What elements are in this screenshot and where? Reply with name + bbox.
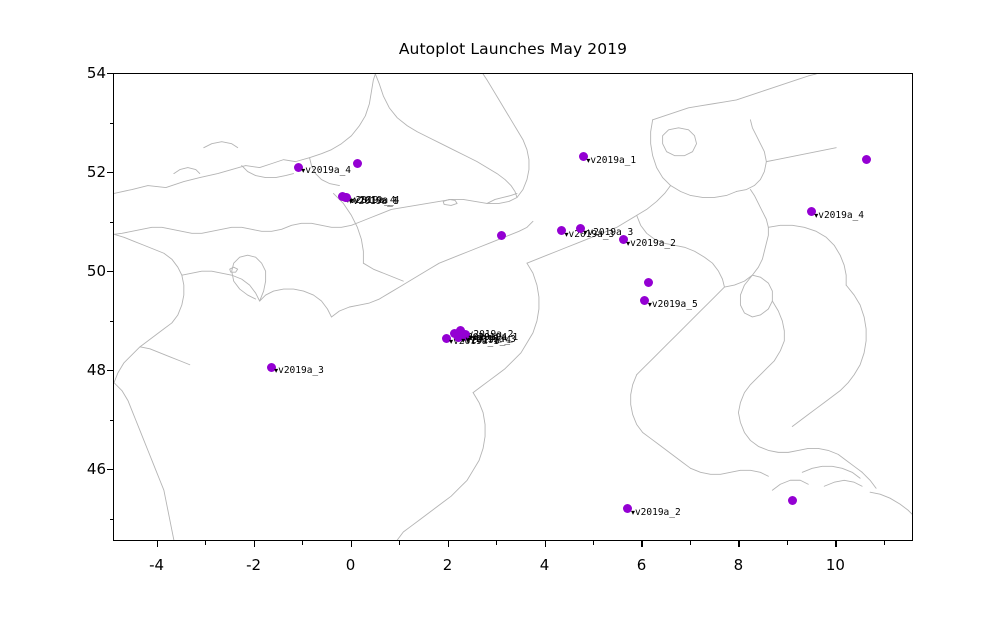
scatter-point[interactable] <box>788 496 797 505</box>
point-label: ▾v2019a_4 <box>814 211 864 221</box>
y-tick-label: 50 <box>87 262 106 280</box>
y-tick-label: 52 <box>87 163 106 181</box>
x-tick-minor <box>302 541 303 545</box>
x-tick-minor <box>787 541 788 545</box>
point-label: ▾v2019a_2 <box>626 239 676 249</box>
y-tick-label: 48 <box>87 361 106 379</box>
x-tick-label: 0 <box>346 556 356 574</box>
x-tick-minor <box>205 541 206 545</box>
point-label: ▾v2019a_5 <box>648 300 698 310</box>
x-tick-minor <box>496 541 497 545</box>
point-label-text: v2019a_4 <box>305 165 351 176</box>
point-label-text: v2019a_3 <box>278 365 324 376</box>
y-tick-minor <box>110 519 114 520</box>
x-tick-label: 10 <box>826 556 845 574</box>
x-tick-major <box>351 541 352 547</box>
y-tick-major <box>107 271 113 272</box>
map-axes[interactable]: ▾v2019a_4▾v2019a_4▾v2019a_1▾v2019a_4▾v20… <box>113 73 913 541</box>
x-tick-minor <box>399 541 400 545</box>
scatter-point[interactable] <box>862 155 871 164</box>
x-tick-label: -2 <box>246 556 261 574</box>
y-tick-label: 54 <box>87 64 106 82</box>
x-tick-label: -4 <box>149 556 164 574</box>
x-tick-major <box>641 541 642 547</box>
y-tick-major <box>107 73 113 74</box>
x-tick-minor <box>593 541 594 545</box>
point-label: ▾v2019a_2 <box>631 508 681 518</box>
y-tick-major <box>107 469 113 470</box>
point-label-text: v2019a_2 <box>635 507 681 518</box>
point-label: ▾v2019a_4 <box>350 196 400 206</box>
point-label-text: v2019a_4 <box>818 210 864 221</box>
point-label: ▾v2019a_4 <box>301 166 351 176</box>
point-label-text: v2019a_1 <box>590 155 636 166</box>
y-tick-major <box>107 172 113 173</box>
figure-canvas: Autoplot Launches May 2019 <box>0 0 1003 633</box>
x-tick-major <box>448 541 449 547</box>
x-tick-label: 8 <box>734 556 744 574</box>
y-tick-minor <box>110 420 114 421</box>
x-tick-minor <box>690 541 691 545</box>
y-tick-minor <box>110 123 114 124</box>
point-label-text: v2019a_4 <box>354 195 400 206</box>
scatter-point[interactable] <box>644 278 653 287</box>
point-label: ▾v2019a_3 <box>274 366 324 376</box>
x-tick-major <box>545 541 546 547</box>
point-label-text: v2019a_2 <box>630 238 676 249</box>
x-tick-label: 6 <box>637 556 647 574</box>
x-tick-major <box>157 541 158 547</box>
point-label-text: v2019a_5 <box>652 299 698 310</box>
point-label: ▾v2019a_4 <box>461 336 511 346</box>
y-tick-major <box>107 370 113 371</box>
y-tick-label: 46 <box>87 460 106 478</box>
x-tick-major <box>738 541 739 547</box>
x-tick-major <box>254 541 255 547</box>
x-tick-major <box>835 541 836 547</box>
x-tick-minor <box>884 541 885 545</box>
x-tick-label: 2 <box>443 556 453 574</box>
point-label-text: v2019a_4 <box>465 335 511 346</box>
y-tick-minor <box>110 222 114 223</box>
chart-title: Autoplot Launches May 2019 <box>113 40 913 58</box>
scatter-point[interactable] <box>497 231 506 240</box>
point-label: ▾v2019a_1 <box>586 156 636 166</box>
x-tick-label: 4 <box>540 556 550 574</box>
y-tick-minor <box>110 321 114 322</box>
scatter-point[interactable] <box>353 159 362 168</box>
scatter-points-layer: ▾v2019a_4▾v2019a_4▾v2019a_1▾v2019a_4▾v20… <box>114 74 912 540</box>
